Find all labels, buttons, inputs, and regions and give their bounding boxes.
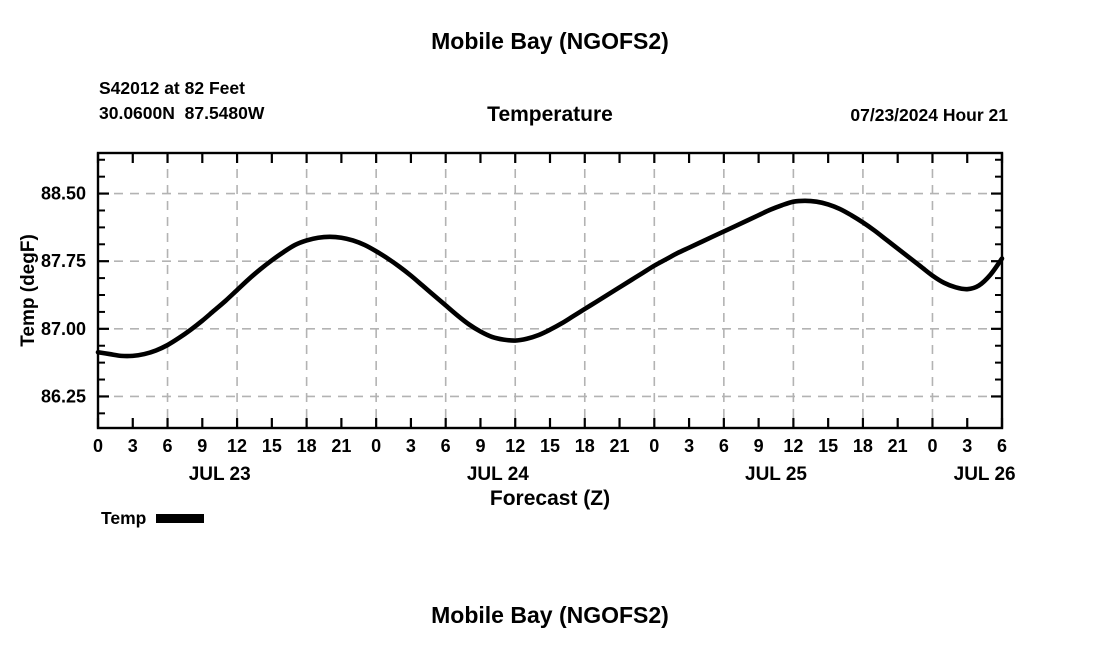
- y-tick-label: 86.25: [41, 386, 86, 406]
- x-tick-label: 3: [406, 436, 416, 456]
- x-axis-title: Forecast (Z): [490, 487, 610, 510]
- series-lines: [98, 201, 1002, 356]
- x-axis-day-label: JUL 26: [954, 464, 1016, 485]
- x-tick-label: 9: [754, 436, 764, 456]
- x-tick-label: 21: [888, 436, 908, 456]
- x-tick-label: 0: [927, 436, 937, 456]
- y-tick-label: 87.00: [41, 319, 86, 339]
- y-tick-label: 87.75: [41, 251, 86, 271]
- x-tick-label: 0: [649, 436, 659, 456]
- y-tick-label: 88.50: [41, 184, 86, 204]
- x-tick-label: 15: [262, 436, 282, 456]
- series-line-temp: [98, 201, 1002, 356]
- x-tick-label: 6: [163, 436, 173, 456]
- x-tick-label: 21: [610, 436, 630, 456]
- x-axis-day-label: JUL 23: [189, 464, 251, 485]
- page-title-bottom: Mobile Bay (NGOFS2): [0, 602, 1100, 629]
- x-tick-label: 12: [227, 436, 247, 456]
- x-tick-label: 9: [475, 436, 485, 456]
- x-tick-label: 9: [197, 436, 207, 456]
- x-tick-label: 21: [331, 436, 351, 456]
- x-axis-day-label: JUL 24: [467, 464, 529, 485]
- x-tick-label: 0: [93, 436, 103, 456]
- legend-swatch-temp: [156, 514, 204, 523]
- y-axis-title: Temp (degF): [18, 234, 39, 347]
- x-tick-label: 12: [505, 436, 525, 456]
- x-tick-label: 6: [719, 436, 729, 456]
- y-axis-labels: 86.2587.0087.7588.50: [41, 184, 86, 407]
- x-tick-label: 12: [783, 436, 803, 456]
- legend-label-temp: Temp: [101, 508, 146, 529]
- x-tick-label: 18: [575, 436, 595, 456]
- x-axis-labels: 036912151821036912151821036912151821036J…: [93, 436, 1016, 485]
- x-tick-label: 18: [853, 436, 873, 456]
- x-tick-label: 3: [684, 436, 694, 456]
- x-tick-label: 0: [371, 436, 381, 456]
- x-tick-label: 18: [297, 436, 317, 456]
- x-axis-day-label: JUL 25: [745, 464, 807, 485]
- plot-area: 86.2587.0087.7588.50 0369121518210369121…: [0, 0, 1100, 650]
- x-tick-label: 15: [818, 436, 838, 456]
- chart-page: Mobile Bay (NGOFS2) S42012 at 82 Feet30.…: [0, 0, 1100, 650]
- temperature-line-chart: 86.2587.0087.7588.50 0369121518210369121…: [0, 0, 1100, 650]
- x-tick-label: 6: [997, 436, 1007, 456]
- x-tick-label: 15: [540, 436, 560, 456]
- legend: Temp: [101, 508, 204, 529]
- x-tick-label: 6: [441, 436, 451, 456]
- x-tick-label: 3: [128, 436, 138, 456]
- x-tick-label: 3: [962, 436, 972, 456]
